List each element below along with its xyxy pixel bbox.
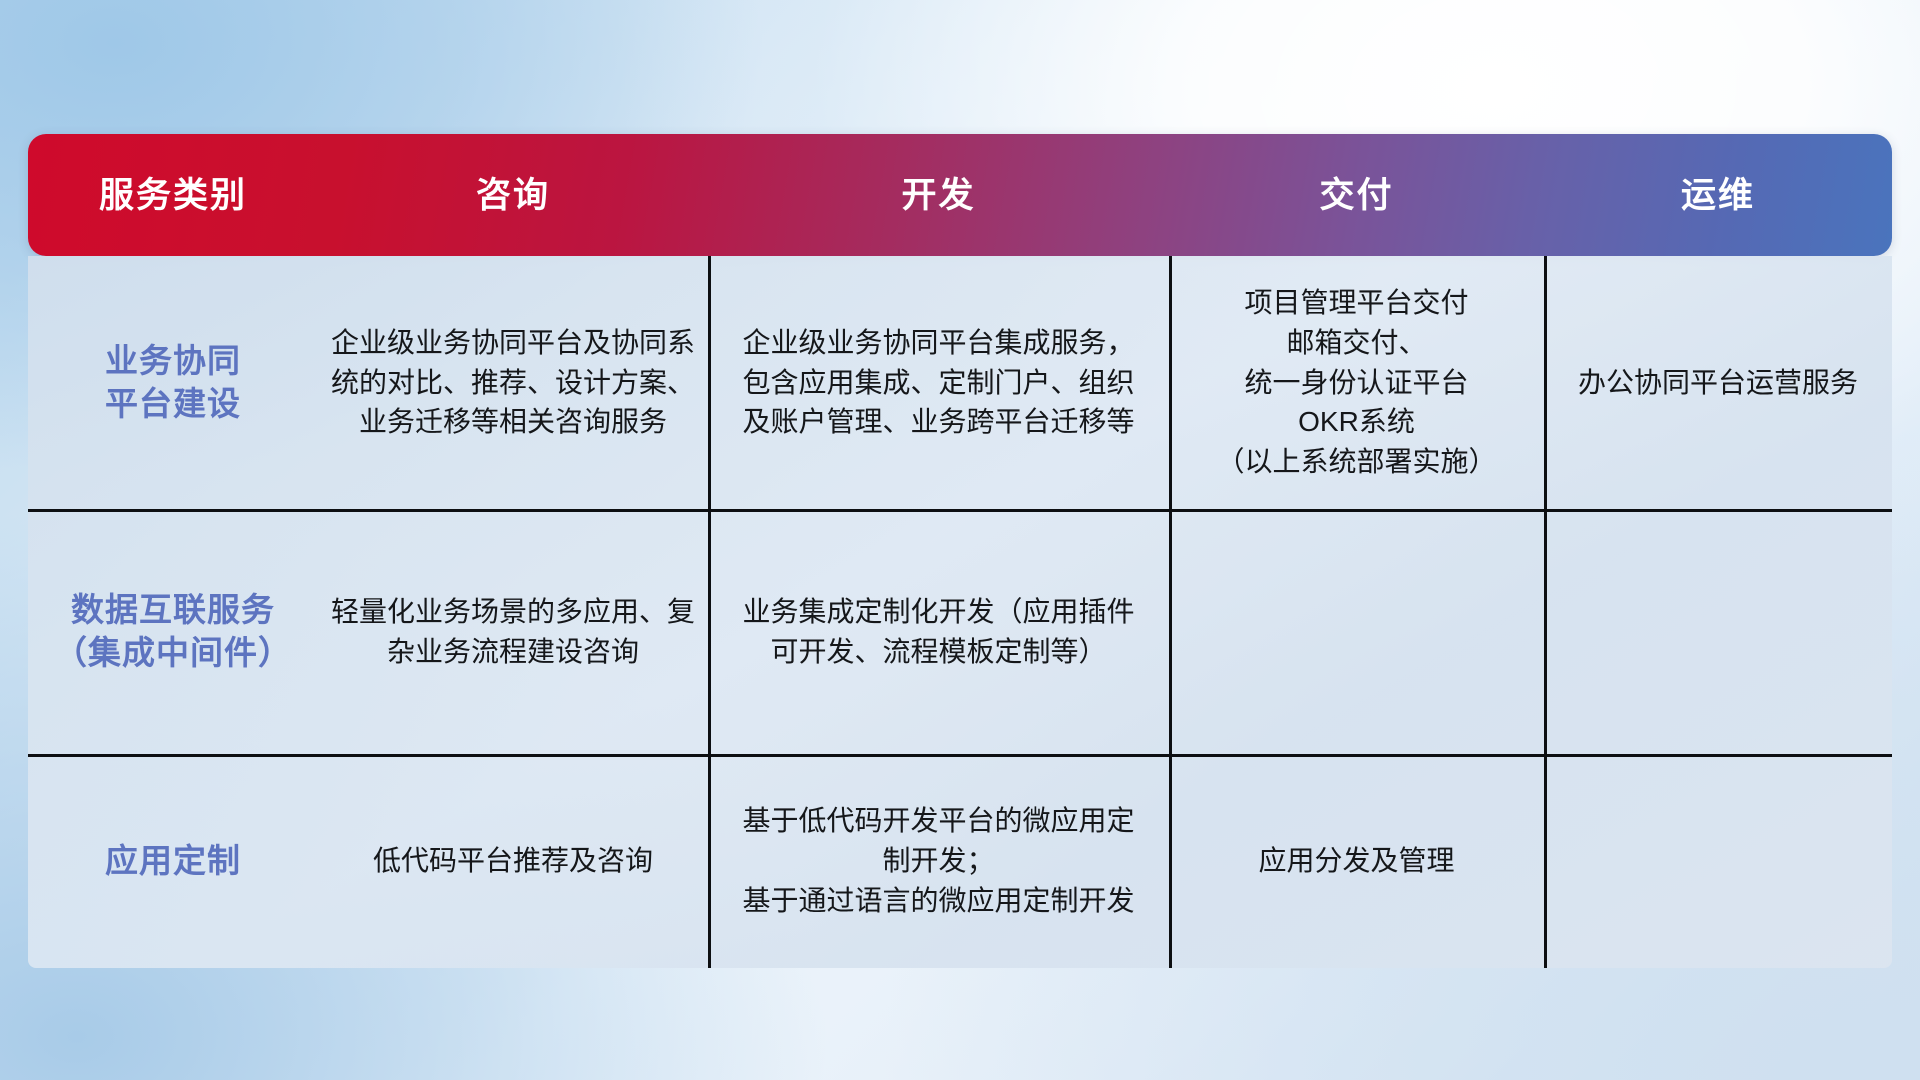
cell-text: 应用分发及管理 [1258, 841, 1454, 881]
table-row: 业务协同 平台建设 企业级业务协同平台及协同系 统的对比、推荐、设计方案、 业务… [28, 256, 1892, 509]
cell-text: 项目管理平台交付 邮箱交付、 统一身份认证平台 OKR系统 （以上系统部署实施） [1216, 283, 1496, 482]
header-cell-service-category: 服务类别 [28, 178, 318, 213]
header-cell-operations: 运维 [1544, 178, 1892, 213]
header-label: 咨询 [476, 176, 550, 215]
cell-delivery: 项目管理平台交付 邮箱交付、 统一身份认证平台 OKR系统 （以上系统部署实施） [1169, 256, 1544, 509]
service-matrix-table: 服务类别 咨询 开发 交付 运维 [28, 134, 1892, 968]
cell-development: 基于低代码开发平台的微应用定 制开发； 基于通过语言的微应用定制开发 [708, 754, 1169, 968]
header-label: 开发 [901, 176, 975, 215]
header-cell-consulting: 咨询 [318, 178, 708, 213]
cell-text: 低代码平台推荐及咨询 [373, 841, 653, 881]
cell-text: 企业级业务协同平台及协同系 统的对比、推荐、设计方案、 业务迁移等相关咨询服务 [331, 323, 695, 442]
table-row: 应用定制 低代码平台推荐及咨询 基于低代码开发平台的微应用定 制开发； 基于通过… [28, 754, 1892, 968]
slide-background: 服务类别 咨询 开发 交付 运维 [0, 0, 1920, 1080]
row-label-cell: 数据互联服务 （集成中间件） [28, 509, 318, 754]
row-label: 业务协同 平台建设 [105, 340, 241, 426]
cell-delivery: 应用分发及管理 [1169, 754, 1544, 968]
row-label-cell: 业务协同 平台建设 [28, 256, 318, 509]
cell-operations [1544, 754, 1892, 968]
header-cell-development: 开发 [708, 178, 1169, 213]
cell-text: 业务集成定制化开发（应用插件 可开发、流程模板定制等） [742, 592, 1134, 672]
cell-consulting: 低代码平台推荐及咨询 [318, 754, 708, 968]
cell-development: 业务集成定制化开发（应用插件 可开发、流程模板定制等） [708, 509, 1169, 754]
cell-text: 基于低代码开发平台的微应用定 制开发； 基于通过语言的微应用定制开发 [742, 801, 1134, 920]
cell-consulting: 企业级业务协同平台及协同系 统的对比、推荐、设计方案、 业务迁移等相关咨询服务 [318, 256, 708, 509]
header-label: 交付 [1319, 176, 1393, 215]
cell-text: 办公协同平台运营服务 [1578, 363, 1858, 403]
cell-text: 企业级业务协同平台集成服务， 包含应用集成、定制门户、组织 及账户管理、业务跨平… [742, 323, 1134, 442]
cell-delivery [1169, 509, 1544, 754]
row-label-cell: 应用定制 [28, 754, 318, 968]
header-cell-delivery: 交付 [1169, 178, 1544, 213]
row-label: 数据互联服务 （集成中间件） [54, 589, 292, 675]
table-body: 业务协同 平台建设 企业级业务协同平台及协同系 统的对比、推荐、设计方案、 业务… [28, 256, 1892, 968]
header-label: 运维 [1681, 176, 1755, 215]
cell-consulting: 轻量化业务场景的多应用、复 杂业务流程建设咨询 [318, 509, 708, 754]
table-header-row: 服务类别 咨询 开发 交付 运维 [28, 134, 1892, 256]
row-label: 应用定制 [105, 840, 241, 883]
cell-operations: 办公协同平台运营服务 [1544, 256, 1892, 509]
cell-development: 企业级业务协同平台集成服务， 包含应用集成、定制门户、组织 及账户管理、业务跨平… [708, 256, 1169, 509]
table-row: 数据互联服务 （集成中间件） 轻量化业务场景的多应用、复 杂业务流程建设咨询 业… [28, 509, 1892, 754]
cell-text: 轻量化业务场景的多应用、复 杂业务流程建设咨询 [331, 592, 695, 672]
cell-operations [1544, 509, 1892, 754]
header-label: 服务类别 [99, 176, 247, 215]
